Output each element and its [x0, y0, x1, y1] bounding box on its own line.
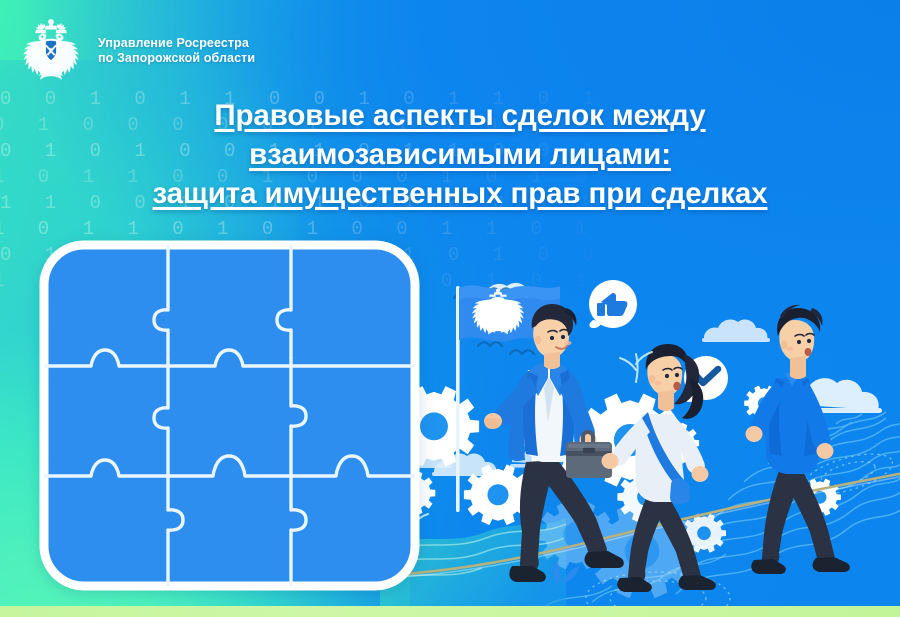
- title-line-2: взаимозависимыми лицами:: [60, 135, 860, 174]
- bottom-accent-strip: [0, 606, 900, 617]
- poster-canvas: 0 0 1 0 1 1 0 0 1 0 1 1 0 1 0 0 1 00 1 0…: [0, 0, 900, 617]
- organization-name: Управление Росреестра по Запорожской обл…: [98, 36, 255, 66]
- page-title: Правовые аспекты сделок между взаимозави…: [60, 96, 860, 213]
- header-branding: Управление Росреестра по Запорожской обл…: [14, 14, 255, 88]
- business-team-climbing-rope-illustration: [380, 246, 900, 617]
- russian-double-headed-eagle-emblem-icon: [14, 14, 88, 88]
- title-line-3: защита имущественных прав при сделках: [60, 174, 860, 213]
- title-line-1: Правовые аспекты сделок между: [60, 96, 860, 135]
- jigsaw-puzzle-graphic: [37, 238, 422, 593]
